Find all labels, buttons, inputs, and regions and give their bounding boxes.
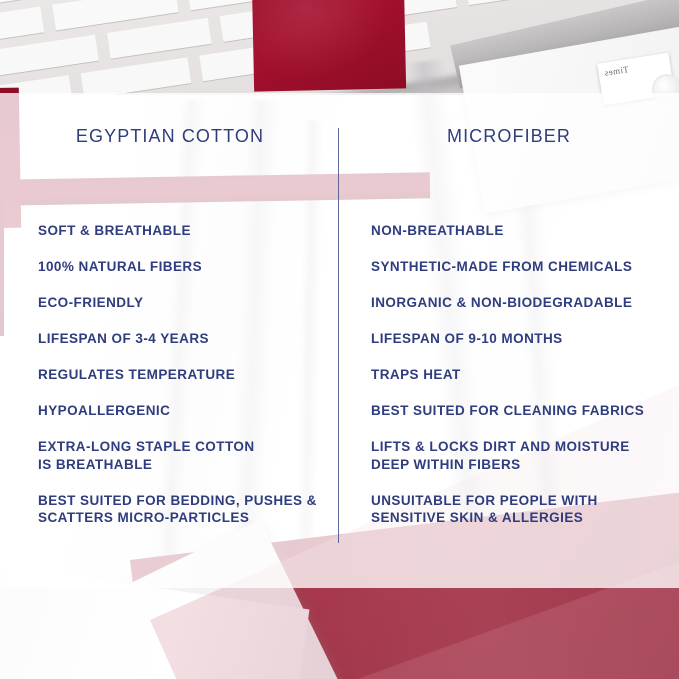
list-item: BEST SUITED FOR CLEANING FABRICS bbox=[371, 402, 671, 420]
list-item: REGULATES TEMPERATURE bbox=[38, 366, 328, 384]
list-item: HYPOALLERGENIC bbox=[38, 402, 328, 420]
list-item: 100% NATURAL FIBERS bbox=[38, 258, 328, 276]
column-heading-egyptian-cotton: EGYPTIAN COTTON bbox=[0, 126, 340, 147]
list-item: LIFESPAN OF 3-4 YEARS bbox=[38, 330, 328, 348]
list-item: BEST SUITED FOR BEDDING, PUSHES & SCATTE… bbox=[38, 492, 328, 527]
list-item: EXTRA-LONG STAPLE COTTON IS BREATHABLE bbox=[38, 438, 328, 473]
comparison-infographic: Times EGYPTIAN COTTON MICROFIBER SOFT & … bbox=[0, 0, 679, 679]
list-item: LIFESPAN OF 9-10 MONTHS bbox=[371, 330, 671, 348]
list-item: UNSUITABLE FOR PEOPLE WITH SENSITIVE SKI… bbox=[371, 492, 671, 527]
feature-list-microfiber: NON-BREATHABLE SYNTHETIC-MADE FROM CHEMI… bbox=[371, 222, 671, 527]
list-item: SYNTHETIC-MADE FROM CHEMICALS bbox=[371, 258, 671, 276]
list-item: TRAPS HEAT bbox=[371, 366, 671, 384]
list-item: LIFTS & LOCKS DIRT AND MOISTURE DEEP WIT… bbox=[371, 438, 671, 473]
column-divider bbox=[338, 128, 339, 543]
column-heading-microfiber: MICROFIBER bbox=[339, 126, 679, 147]
list-item: SOFT & BREATHABLE bbox=[38, 222, 328, 240]
comparison-content: EGYPTIAN COTTON MICROFIBER SOFT & BREATH… bbox=[0, 0, 679, 679]
list-item: INORGANIC & NON-BIODEGRADABLE bbox=[371, 294, 671, 312]
feature-list-egyptian-cotton: SOFT & BREATHABLE 100% NATURAL FIBERS EC… bbox=[38, 222, 328, 527]
list-item: NON-BREATHABLE bbox=[371, 222, 671, 240]
list-item: ECO-FRIENDLY bbox=[38, 294, 328, 312]
